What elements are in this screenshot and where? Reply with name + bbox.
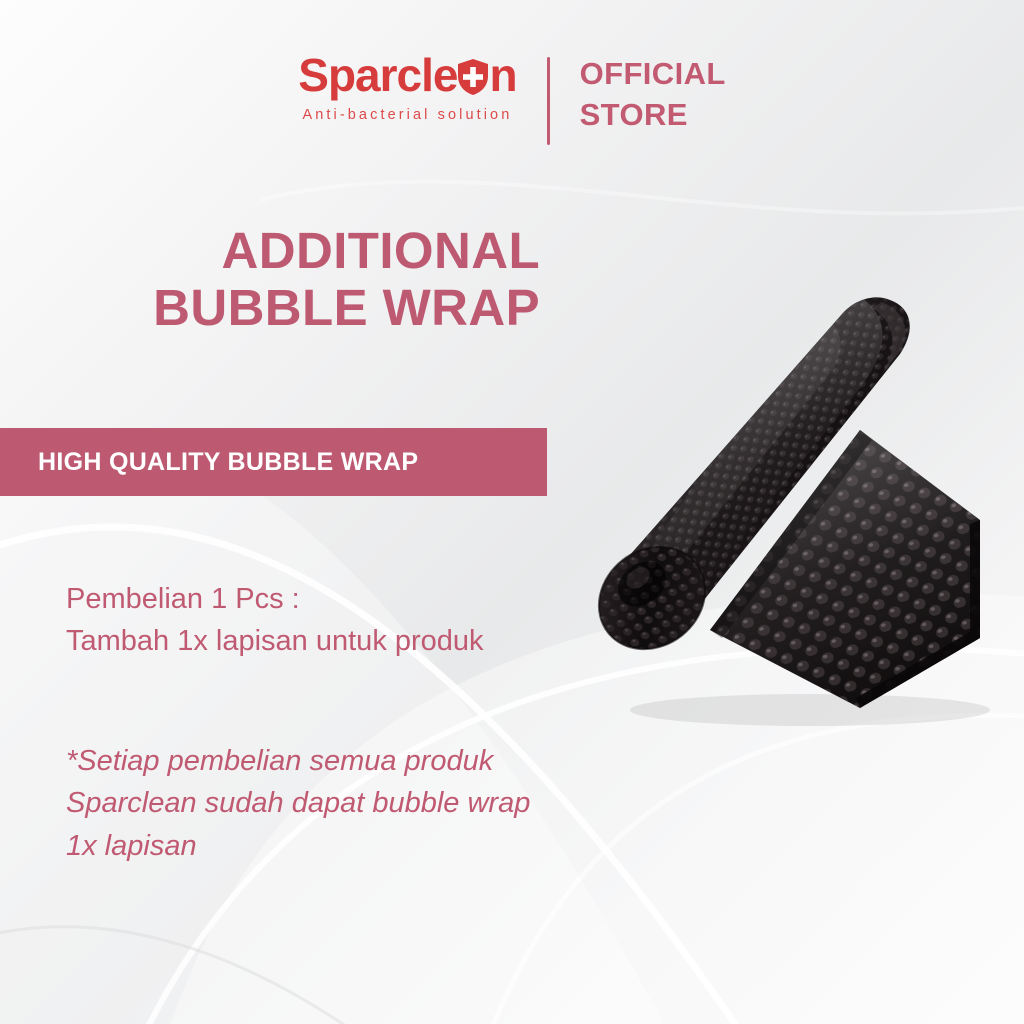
headline-line-1: ADDITIONAL (0, 222, 540, 279)
purchase-note-line-1: Pembelian 1 Pcs : (66, 578, 484, 620)
official-store-label: OFFICIAL STORE (550, 54, 726, 136)
official-store-line-1: OFFICIAL (580, 54, 726, 95)
quality-banner-label: HIGH QUALITY BUBBLE WRAP (38, 448, 418, 477)
page-title: ADDITIONAL BUBBLE WRAP (0, 222, 548, 336)
brand-wordmark: Sparcle n (298, 52, 516, 98)
brand-tagline: Anti-bacterial solution (302, 107, 512, 123)
product-image-bubble-wrap-roll (560, 278, 1024, 728)
wordmark-text-after: n (489, 52, 516, 98)
headline-line-2: BUBBLE WRAP (0, 279, 540, 336)
disclaimer-note: *Setiap pembelian semua produk Sparclean… (66, 740, 530, 867)
disclaimer-note-line-1: *Setiap pembelian semua produk (66, 740, 530, 782)
purchase-note-line-2: Tambah 1x lapisan untuk produk (66, 620, 484, 662)
brand-logo: Sparcle n Anti-bacterial solution (298, 52, 546, 123)
header: Sparcle n Anti-bacterial solution OFFICI… (0, 52, 1024, 145)
disclaimer-note-line-2: Sparclean sudah dapat bubble wrap (66, 782, 530, 824)
purchase-note: Pembelian 1 Pcs : Tambah 1x lapisan untu… (66, 578, 484, 662)
product-promo-poster: Sparcle n Anti-bacterial solution OFFICI… (0, 0, 1024, 1024)
quality-banner: HIGH QUALITY BUBBLE WRAP (0, 428, 547, 496)
wordmark-text-before: Sparcle (298, 52, 457, 98)
shield-cross-icon (456, 58, 490, 96)
official-store-line-2: STORE (580, 95, 726, 136)
disclaimer-note-line-3: 1x lapisan (66, 825, 530, 867)
